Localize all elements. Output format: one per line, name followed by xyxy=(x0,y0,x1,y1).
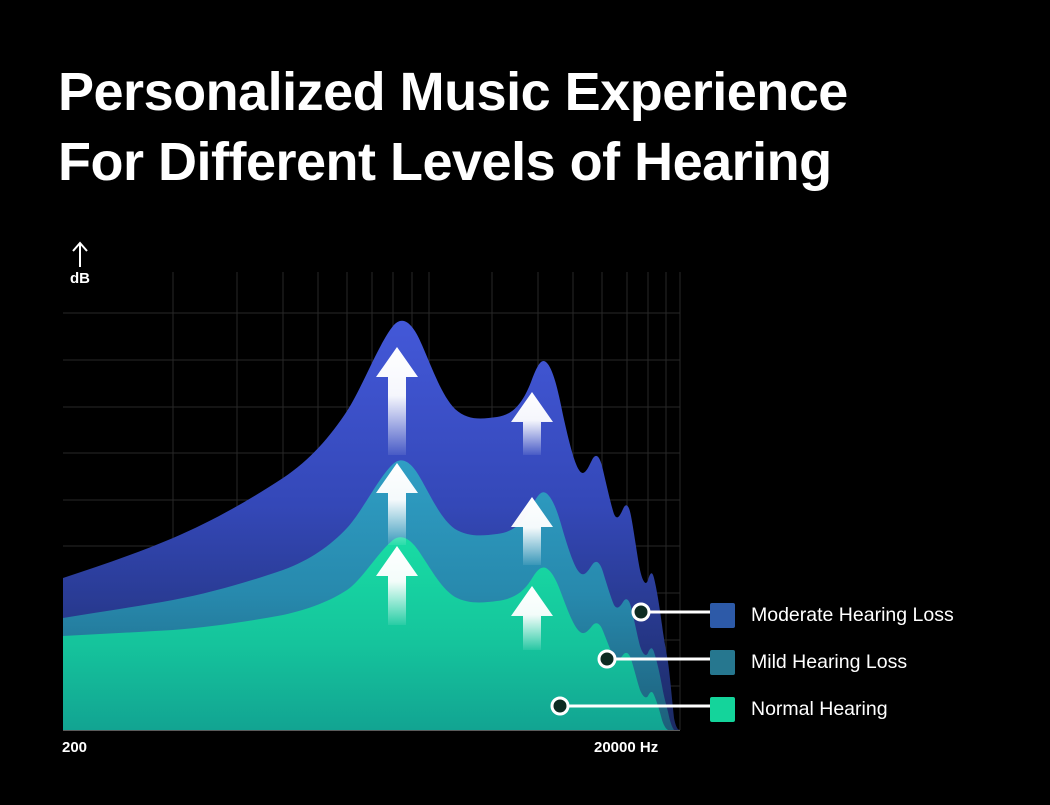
legend-label-normal: Normal Hearing xyxy=(751,698,888,721)
chart-legend: Moderate Hearing Loss Mild Hearing Loss … xyxy=(710,592,1010,733)
y-axis-label-group: dB xyxy=(70,240,90,287)
callout-dot-moderate xyxy=(633,604,649,620)
callout-dot-mild xyxy=(599,651,615,667)
callout-dot-normal xyxy=(552,698,568,714)
legend-item-moderate-hearing-loss[interactable]: Moderate Hearing Loss xyxy=(710,592,1010,639)
up-arrow-icon xyxy=(70,240,90,268)
x-axis-tick-min: 200 xyxy=(62,739,87,756)
x-axis-tick-max: 20000 Hz xyxy=(594,739,658,756)
legend-swatch-icon-mild xyxy=(710,650,735,675)
y-axis-unit-label: dB xyxy=(70,270,90,287)
legend-item-normal-hearing[interactable]: Normal Hearing xyxy=(710,686,1010,733)
legend-item-mild-hearing-loss[interactable]: Mild Hearing Loss xyxy=(710,639,1010,686)
legend-swatch-icon-normal xyxy=(710,697,735,722)
legend-label-moderate: Moderate Hearing Loss xyxy=(751,604,954,627)
legend-label-mild: Mild Hearing Loss xyxy=(751,651,907,674)
legend-swatch-icon-moderate xyxy=(710,603,735,628)
infographic-root: Personalized Music Experience For Differ… xyxy=(0,0,1050,805)
